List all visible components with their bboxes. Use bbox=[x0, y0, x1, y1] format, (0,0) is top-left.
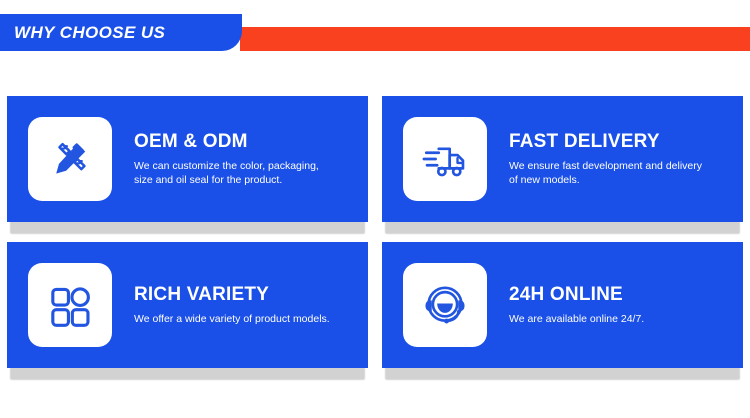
card-slot-24h-online: 24H ONLINE We are available online 24/7. bbox=[375, 234, 750, 380]
delivery-truck-icon bbox=[403, 117, 487, 201]
card-description: We offer a wide variety of product model… bbox=[134, 313, 334, 327]
card-text-block: RICH VARIETY We offer a wide variety of … bbox=[112, 284, 368, 327]
headset-support-icon bbox=[403, 263, 487, 347]
card-description: We are available online 24/7. bbox=[509, 313, 709, 327]
card-title: OEM & ODM bbox=[134, 131, 354, 153]
feature-card-rich-variety[interactable]: RICH VARIETY We offer a wide variety of … bbox=[7, 242, 368, 368]
card-text-block: FAST DELIVERY We ensure fast development… bbox=[487, 131, 743, 187]
card-slot-oem-odm: OEM & ODM We can customize the color, pa… bbox=[0, 88, 375, 234]
feature-card-oem-odm[interactable]: OEM & ODM We can customize the color, pa… bbox=[7, 96, 368, 222]
card-slot-fast-delivery: FAST DELIVERY We ensure fast development… bbox=[375, 88, 750, 234]
banner-red-stripe bbox=[240, 27, 750, 51]
feature-card-grid: OEM & ODM We can customize the color, pa… bbox=[0, 88, 750, 388]
feature-card-24h-online[interactable]: 24H ONLINE We are available online 24/7. bbox=[382, 242, 743, 368]
card-title: FAST DELIVERY bbox=[509, 131, 729, 153]
page-title: WHY CHOOSE US bbox=[14, 20, 165, 45]
card-slot-rich-variety: RICH VARIETY We offer a wide variety of … bbox=[0, 234, 375, 380]
shapes-grid-icon bbox=[28, 263, 112, 347]
card-title: RICH VARIETY bbox=[134, 284, 354, 306]
card-text-block: OEM & ODM We can customize the color, pa… bbox=[112, 131, 368, 187]
card-text-block: 24H ONLINE We are available online 24/7. bbox=[487, 284, 743, 327]
card-title: 24H ONLINE bbox=[509, 284, 729, 306]
page-header-banner: WHY CHOOSE US bbox=[0, 0, 750, 62]
feature-card-fast-delivery[interactable]: FAST DELIVERY We ensure fast development… bbox=[382, 96, 743, 222]
card-description: We ensure fast development and delivery … bbox=[509, 160, 709, 187]
card-description: We can customize the color, packaging, s… bbox=[134, 160, 334, 187]
pencil-ruler-icon bbox=[28, 117, 112, 201]
